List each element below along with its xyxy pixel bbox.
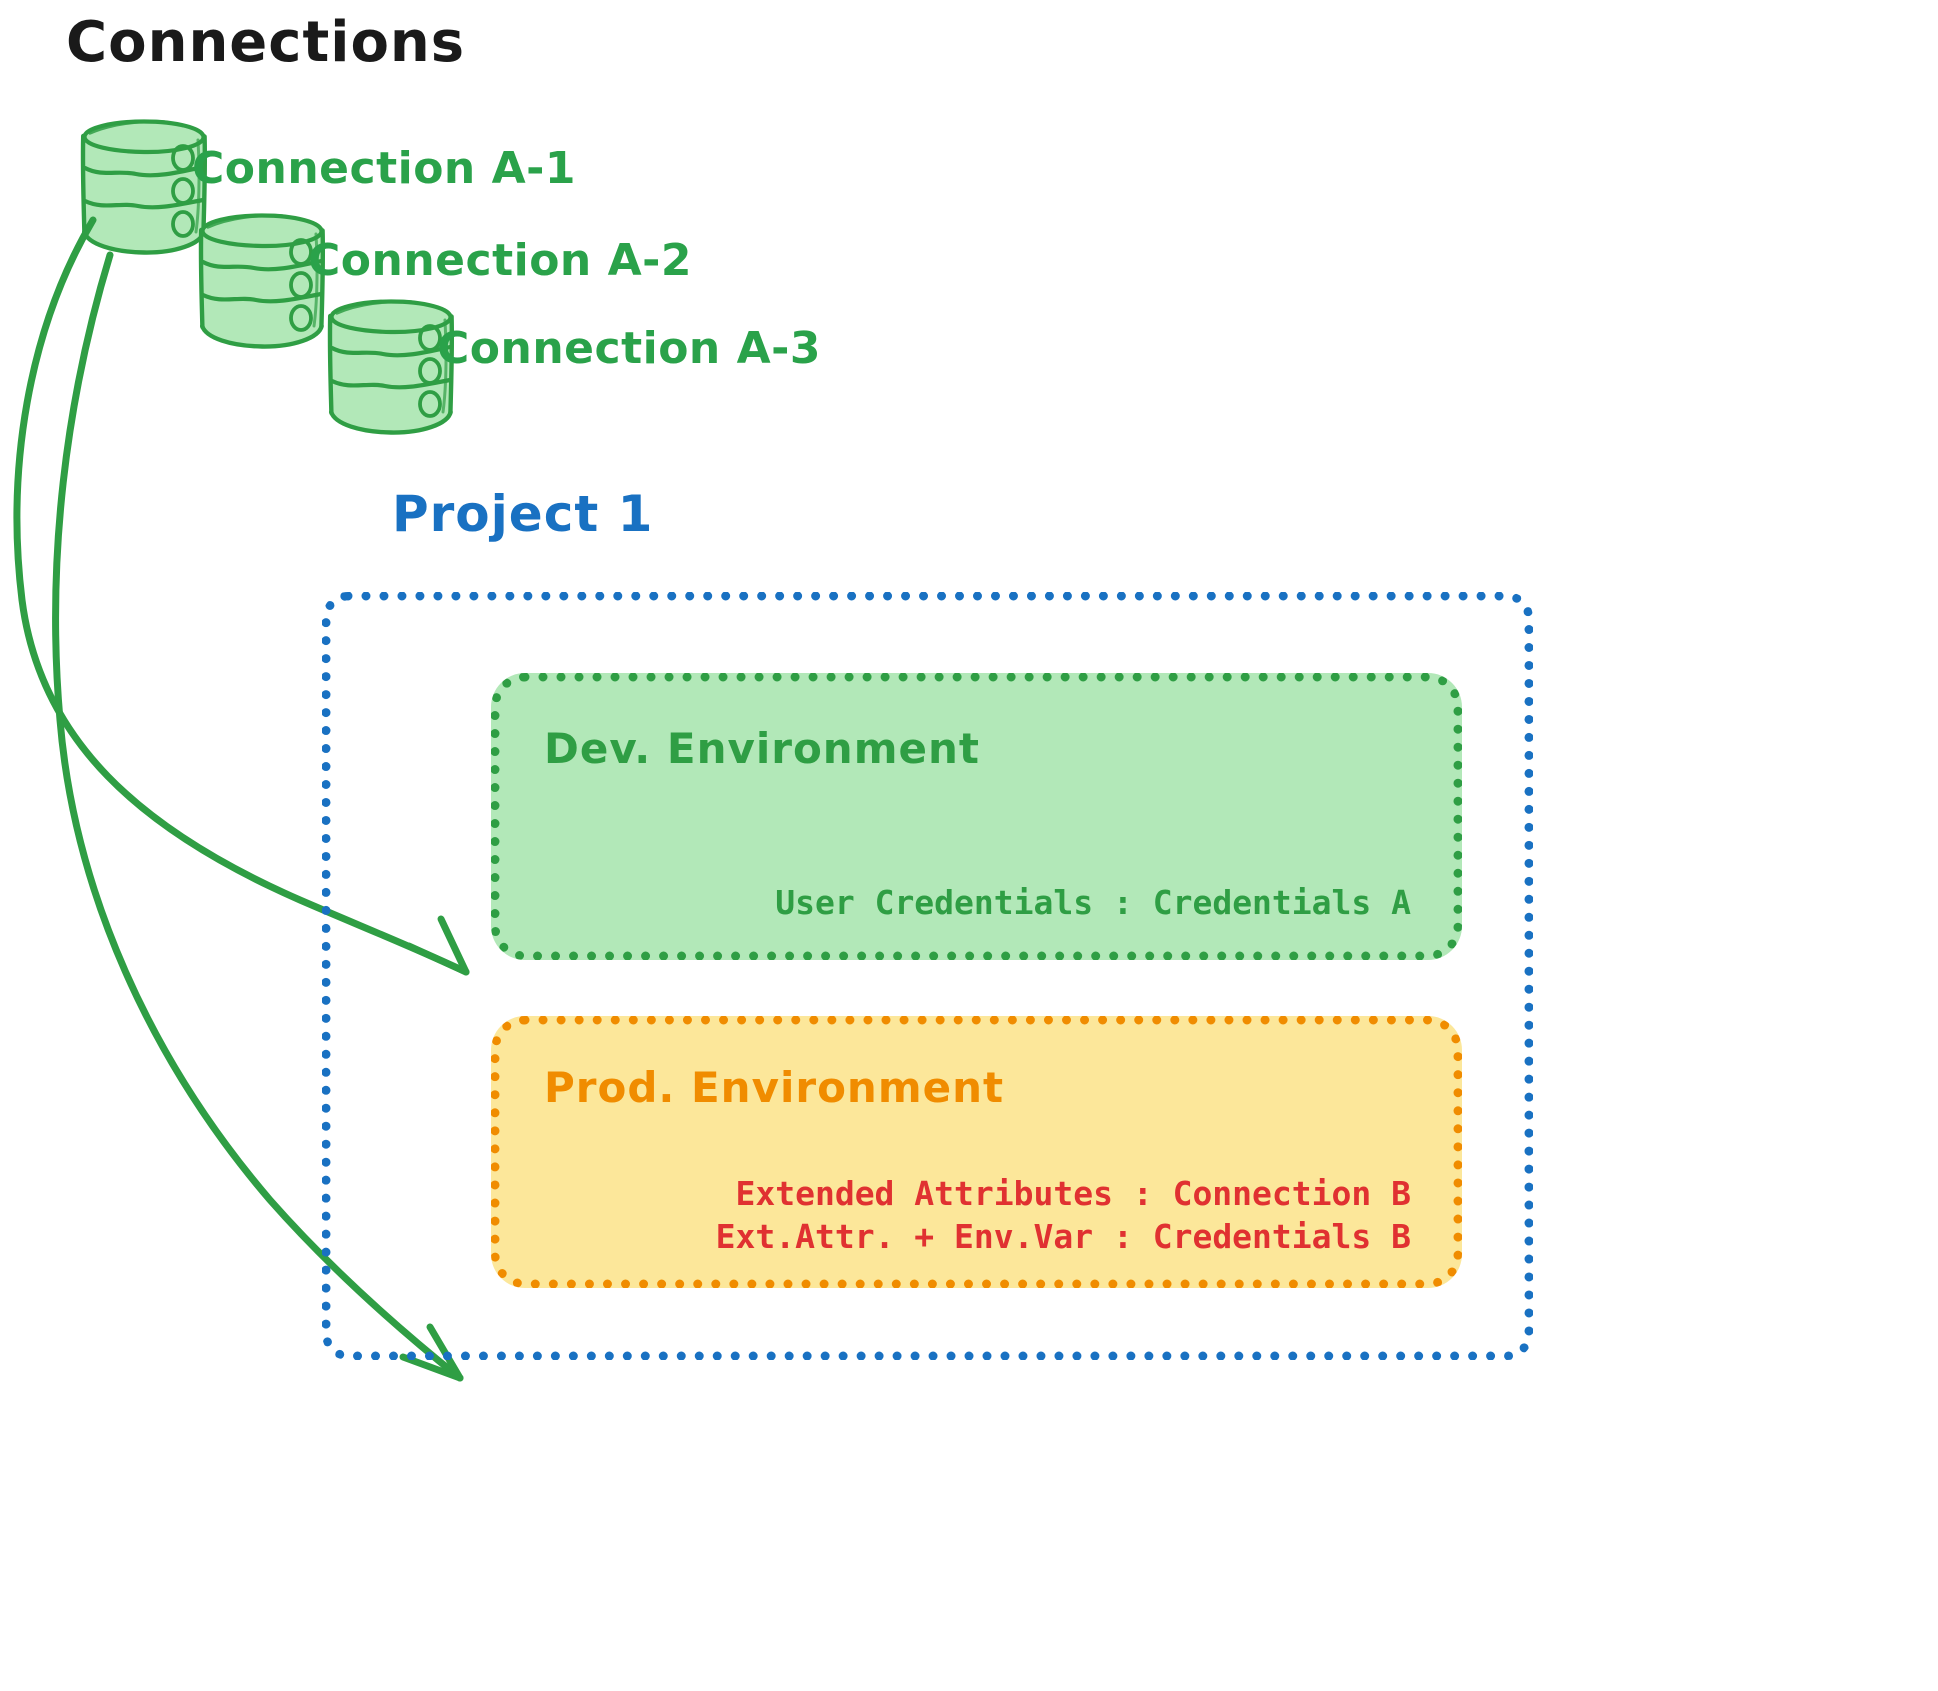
dev-environment-title: Dev. Environment <box>544 724 980 773</box>
prod-environment-box: Prod. Environment Extended Attributes : … <box>491 1016 1462 1288</box>
connection-label-a1: Connection A-1 <box>192 143 576 194</box>
database-cylinder-icon-1 <box>83 121 205 253</box>
dev-detail-line-1: User Credentials : Credentials A <box>775 881 1411 925</box>
database-cylinder-icon-2 <box>201 215 323 347</box>
prod-detail-line-2: Ext.Attr. + Env.Var : Credentials B <box>716 1215 1411 1259</box>
prod-environment-details: Extended Attributes : Connection B Ext.A… <box>716 1172 1411 1259</box>
prod-environment-title: Prod. Environment <box>544 1063 1004 1112</box>
connection-label-a2: Connection A-2 <box>308 235 692 286</box>
project-title: Project 1 <box>392 485 653 543</box>
prod-detail-line-1: Extended Attributes : Connection B <box>716 1172 1411 1216</box>
dev-environment-box: Dev. Environment User Credentials : Cred… <box>491 673 1462 960</box>
page-title: Connections <box>66 10 465 75</box>
connection-label-a3: Connection A-3 <box>437 323 821 374</box>
dev-environment-details: User Credentials : Credentials A <box>775 881 1411 925</box>
diagram-canvas: Connections Connection A-1 Connection A-… <box>0 0 1938 1691</box>
database-cylinder-icon-3 <box>330 301 452 433</box>
